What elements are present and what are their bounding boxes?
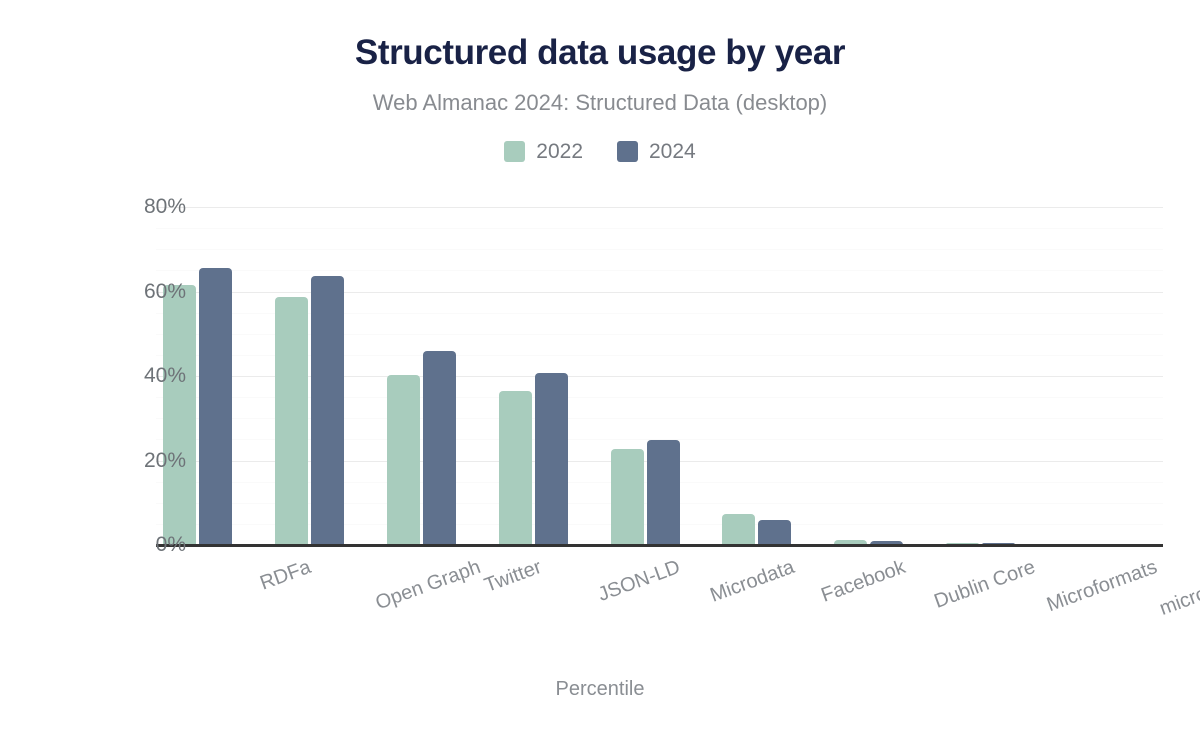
y-axis-tick-label: 80% xyxy=(26,195,186,219)
bar-group xyxy=(827,207,939,545)
bar-2022[interactable] xyxy=(611,449,644,545)
bar-group xyxy=(715,207,827,545)
legend-label: 2024 xyxy=(649,141,696,162)
y-axis-tick-label: 0% xyxy=(26,533,186,557)
bar-2024[interactable] xyxy=(199,268,232,545)
legend-item-2022[interactable]: 2022 xyxy=(504,141,583,162)
bar-2024[interactable] xyxy=(647,440,680,545)
legend-swatch-icon xyxy=(617,141,638,162)
bar-2022[interactable] xyxy=(722,514,755,545)
bar-group xyxy=(604,207,716,545)
x-axis-tick-label: Twitter xyxy=(481,556,544,598)
bar-2022[interactable] xyxy=(275,297,308,545)
x-axis-tick-label: microformats2 xyxy=(1157,556,1200,621)
y-axis-tick-label: 40% xyxy=(26,364,186,388)
x-axis-tick-label: Open Graph xyxy=(372,556,483,615)
chart-legend: 20222024 xyxy=(0,141,1200,162)
chart-title: Structured data usage by year xyxy=(0,33,1200,73)
bar-group xyxy=(380,207,492,545)
plot-area xyxy=(156,207,1163,545)
x-axis-label: Percentile xyxy=(0,678,1200,701)
x-axis-line xyxy=(156,544,1163,547)
chart-figure: Structured data usage by year Web Almana… xyxy=(0,0,1200,742)
bar-group xyxy=(268,207,380,545)
x-axis-tick-label: JSON-LD xyxy=(595,556,683,607)
x-axis-tick-label: RDFa xyxy=(257,556,314,595)
x-axis-tick-label: Microformats xyxy=(1044,556,1160,617)
x-axis-tick-label: Dublin Core xyxy=(932,556,1039,614)
bar-group xyxy=(939,207,1051,545)
bar-2024[interactable] xyxy=(311,276,344,545)
y-axis-tick-label: 20% xyxy=(26,449,186,473)
chart-subtitle: Web Almanac 2024: Structured Data (deskt… xyxy=(0,90,1200,116)
bar-group xyxy=(492,207,604,545)
bar-2022[interactable] xyxy=(163,285,196,545)
x-axis-tick-label: Facebook xyxy=(819,556,909,608)
legend-label: 2022 xyxy=(536,141,583,162)
bar-2022[interactable] xyxy=(387,375,420,545)
bar-2022[interactable] xyxy=(499,391,532,545)
x-axis-tick-label: Microdata xyxy=(707,556,797,608)
bar-2024[interactable] xyxy=(423,351,456,545)
bar-2024[interactable] xyxy=(758,520,791,545)
y-axis-tick-label: 60% xyxy=(26,280,186,304)
legend-swatch-icon xyxy=(504,141,525,162)
bar-group xyxy=(1051,207,1163,545)
bar-2024[interactable] xyxy=(535,373,568,545)
legend-item-2024[interactable]: 2024 xyxy=(617,141,696,162)
